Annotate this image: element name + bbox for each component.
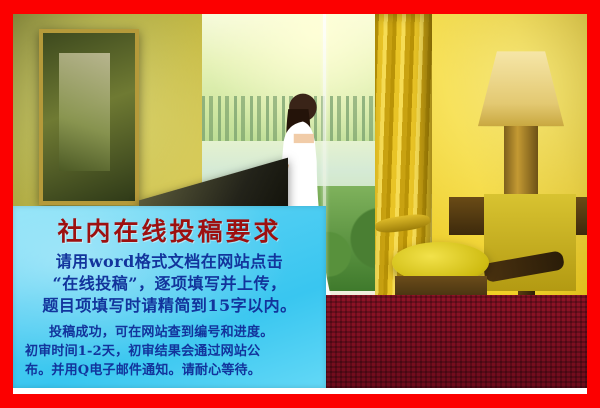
notice-sub-line: 初审时间1-2天，初审结果会通过网站公 xyxy=(25,342,316,361)
framed-painting xyxy=(39,29,139,205)
notice-main-line: 请用word格式文档在网站点击 xyxy=(21,251,318,273)
notice-main-line: 题目项填写时请精简到15字以内。 xyxy=(21,295,318,317)
notice-sub-line: 投稿成功，可在网站查到编号和进度。 xyxy=(25,323,316,342)
notice-sub-paragraph: 投稿成功，可在网站查到编号和进度。 初审时间1-2天，初审结果会通过网站公 布。… xyxy=(13,323,326,380)
scene-photo: 社内在线投稿要求 请用word格式文档在网站点击 “在线投稿”，逐项填写并上传，… xyxy=(13,14,587,388)
notice-main-line: “在线投稿”，逐项填写并上传， xyxy=(21,273,318,295)
photo-bottom-hairline xyxy=(13,388,587,394)
lamp-base xyxy=(504,126,538,201)
poster-frame: 社内在线投稿要求 请用word格式文档在网站点击 “在线投稿”，逐项填写并上传，… xyxy=(0,0,600,408)
notice-panel: 社内在线投稿要求 请用word格式文档在网站点击 “在线投稿”，逐项填写并上传，… xyxy=(13,206,326,388)
notice-sub-line: 布。并用Q电子邮件通知。请耐心等待。 xyxy=(25,361,316,380)
red-patterned-carpet xyxy=(300,295,587,389)
notice-main-paragraph: 请用word格式文档在网站点击 “在线投稿”，逐项填写并上传， 题目项填写时请精… xyxy=(13,250,326,317)
notice-title: 社内在线投稿要求 xyxy=(13,206,326,250)
